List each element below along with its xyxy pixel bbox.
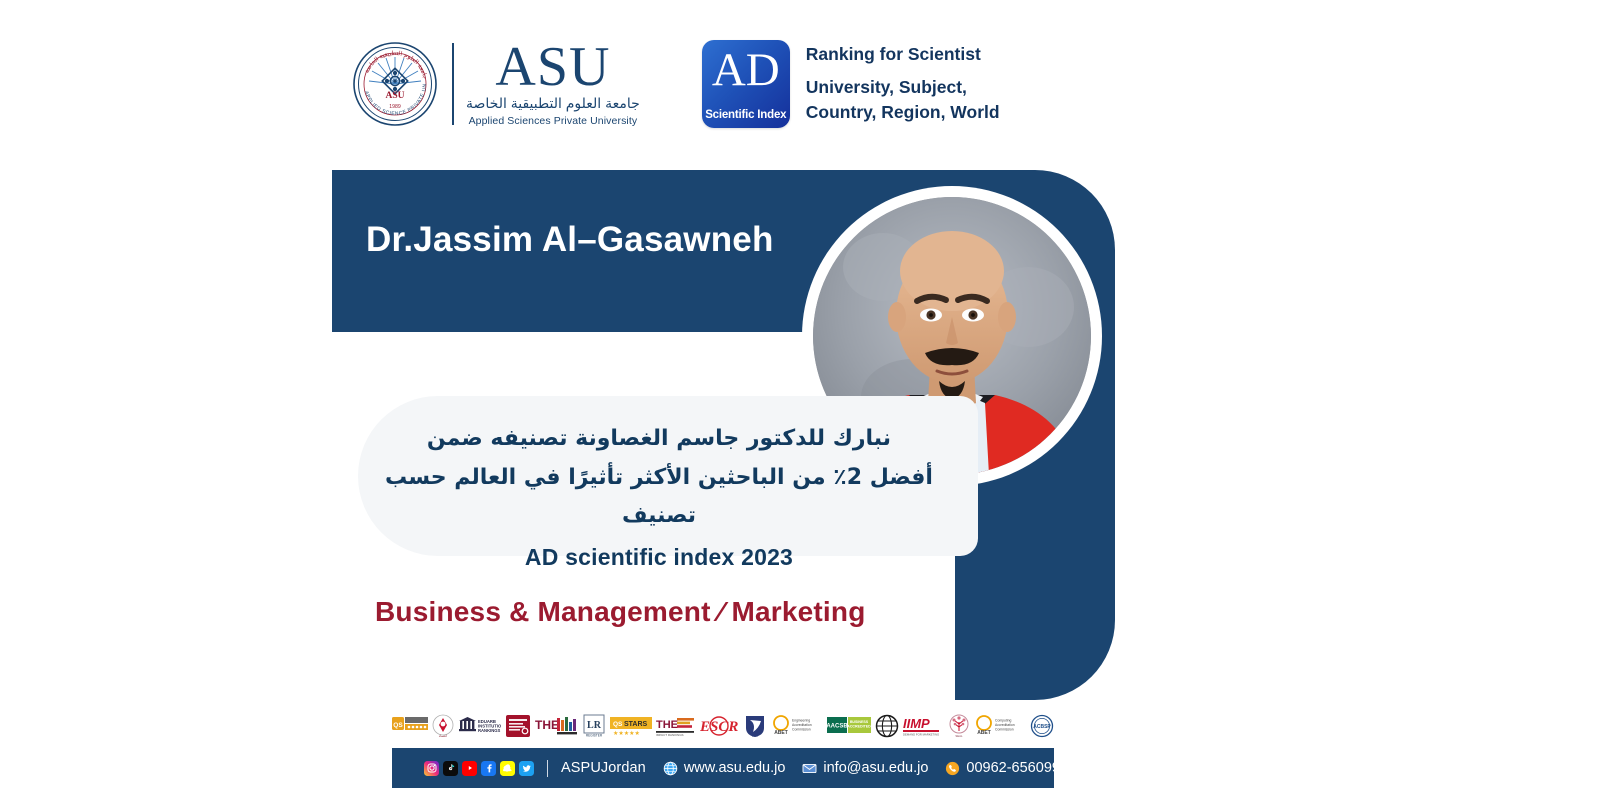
- ad-tagline: Ranking for Scientist University, Subjec…: [806, 42, 1000, 125]
- asu-seal-icon: ASU 1989 APPLIED SCIENCE PRIVATE UNIVERS…: [352, 41, 438, 127]
- svg-text:ABET: ABET: [774, 730, 788, 736]
- svg-text:QS: QS: [613, 721, 623, 728]
- qs-stars-rating-icon: QSSTARS★★★★★: [610, 713, 652, 739]
- phone-item[interactable]: 00962-65609999: [945, 760, 1076, 776]
- asu-wordmark: ASU جامعة العلوم التطبيقية الخاصة Applie…: [466, 41, 640, 127]
- svg-text:LR: LR: [587, 720, 602, 731]
- poster-canvas: ASU 1989 APPLIED SCIENCE PRIVATE UNIVERS…: [0, 0, 1600, 800]
- acbsp-seal-icon: ACBSP: [1030, 713, 1054, 739]
- aacsb-accredited-icon: AACSBBUSINESSACCREDITED: [827, 713, 871, 739]
- globe-icon: [663, 761, 678, 776]
- ad-scientific-index-logo: AD Scientific Index: [702, 40, 790, 128]
- svg-text:IMPACT RANKINGS: IMPACT RANKINGS: [656, 733, 684, 737]
- twitter-icon[interactable]: [519, 761, 534, 776]
- svg-text:UOK: UOK: [752, 734, 759, 738]
- phone-number[interactable]: 00962-65609999: [966, 760, 1076, 776]
- edurank-institutions-rankings-icon: EDUARBINSTITUTIONSRANKINGS: [459, 713, 501, 739]
- svg-text:THE: THE: [656, 719, 678, 731]
- asu-abbreviation: ASU: [495, 41, 610, 94]
- svg-text:ABET: ABET: [977, 730, 991, 736]
- the-world-university-rankings-icon: THE: [535, 713, 579, 739]
- ad-tagline-line2: University, Subject,: [806, 75, 1000, 100]
- asu-logo-lockup: ASU 1989 APPLIED SCIENCE PRIVATE UNIVERS…: [352, 29, 640, 139]
- the-impact-rankings-icon: THEIMPACT RANKINGS: [656, 713, 696, 739]
- svg-text:اعتماد: اعتماد: [439, 734, 448, 738]
- tiktok-icon[interactable]: [443, 761, 458, 776]
- svg-text:ACBSP: ACBSP: [1033, 724, 1051, 730]
- ad-tagline-line3: Country, Region, World: [806, 100, 1000, 125]
- congratulation-card: نبارك للدكتور جاسم الغصاونة تصنيفه ضمن أ…: [358, 396, 978, 556]
- ifla-globe-icon: [875, 713, 899, 739]
- instagram-icon[interactable]: [424, 761, 439, 776]
- youtube-icon[interactable]: [462, 761, 477, 776]
- abet-engineering-accreditation-icon: ABETEngineeringAccreditationCommission: [771, 713, 823, 739]
- svg-text:REGISTER: REGISTER: [586, 734, 603, 738]
- uok-shield-icon: UOK: [744, 713, 766, 739]
- svg-text:Accreditation: Accreditation: [995, 723, 1015, 727]
- svg-text:ESCR: ESCR: [700, 719, 738, 735]
- svg-text:Commission: Commission: [995, 728, 1014, 732]
- asu-english-name: Applied Sciences Private University: [469, 115, 638, 127]
- ad-logo-subtitle: Scientific Index: [702, 109, 790, 121]
- phone-icon: [945, 761, 960, 776]
- facebook-icon[interactable]: [481, 761, 496, 776]
- svg-text:QS: QS: [393, 722, 403, 729]
- website-url[interactable]: www.asu.edu.jo: [684, 760, 786, 776]
- svg-text:THE: THE: [535, 718, 559, 732]
- social-handle[interactable]: ASPUJordan: [561, 760, 646, 776]
- congratulation-line-1: نبارك للدكتور جاسم الغصاونة تصنيفه ضمن: [358, 420, 960, 459]
- logo-divider: [452, 43, 454, 125]
- contact-footer-bar: ASPUJordan www.asu.edu.jo info@asu.edu.j…: [392, 748, 1054, 788]
- snapchat-icon[interactable]: [500, 761, 515, 776]
- ad-tagline-line1: Ranking for Scientist: [806, 42, 1000, 67]
- svg-text:Accreditation: Accreditation: [792, 723, 812, 727]
- abet-computing-accreditation-icon: ABETComputingAccreditationCommission: [974, 713, 1026, 739]
- svg-text:IIMP: IIMP: [903, 716, 930, 731]
- svg-text:BUSINESS: BUSINESS: [850, 720, 869, 724]
- email-address[interactable]: info@asu.edu.jo: [823, 760, 928, 776]
- subject-field: Business & Management ⁄ Marketing: [375, 596, 866, 628]
- svg-text:1989: 1989: [389, 104, 401, 110]
- footer-divider: [547, 760, 548, 777]
- svg-text:STARS: STARS: [624, 721, 648, 728]
- website-item[interactable]: www.asu.edu.jo: [663, 760, 786, 776]
- lr-register-icon: LRREGISTER: [583, 713, 605, 739]
- svg-text:SEAL: SEAL: [955, 734, 963, 738]
- qs-stars-excellent-icon: QS: [392, 713, 428, 739]
- poster-header: ASU 1989 APPLIED SCIENCE PRIVATE UNIVERS…: [352, 24, 1012, 144]
- svg-text:★★★★★: ★★★★★: [613, 730, 640, 737]
- arab-universities-union-icon: [505, 713, 531, 739]
- svg-text:DEMAND FOR MARKETING: DEMAND FOR MARKETING: [903, 733, 939, 737]
- asu-arabic-name: جامعة العلوم التطبيقية الخاصة: [466, 95, 640, 112]
- honoree-name: Dr.Jassim Al–Gasawneh: [366, 220, 774, 260]
- congratulation-index-label: AD scientific index 2023: [358, 544, 960, 571]
- svg-text:ACCREDITED: ACCREDITED: [847, 725, 871, 729]
- envelope-icon: [802, 761, 817, 776]
- svg-text:AACSB: AACSB: [827, 724, 848, 730]
- tree-seal-icon: SEAL: [948, 713, 970, 739]
- jordan-heritage-badge-icon: اعتماد: [432, 713, 454, 739]
- svg-text:Engineering: Engineering: [792, 719, 810, 723]
- social-icons-group: ASPUJordan: [424, 760, 646, 777]
- email-item[interactable]: info@asu.edu.jo: [802, 760, 928, 776]
- svg-text:ASU: ASU: [385, 91, 404, 101]
- congratulation-text: نبارك للدكتور جاسم الغصاونة تصنيفه ضمن أ…: [358, 420, 960, 571]
- svg-text:Commission: Commission: [792, 728, 811, 732]
- accreditation-logo-strip: QS اعتماد EDUARBINSTITUTIONSRANKINGS THE…: [392, 711, 1054, 741]
- svg-text:Computing: Computing: [995, 719, 1012, 723]
- ad-logo-mark: AD: [702, 46, 790, 95]
- iimp-marketing-icon: IIMPDEMAND FOR MARKETING: [903, 713, 943, 739]
- congratulation-line-2: أفضل 2٪ من الباحثين الأكثر تأثيرًا في ال…: [358, 459, 960, 536]
- svg-text:RANKINGS: RANKINGS: [478, 728, 501, 733]
- ad-scientific-index-lockup: AD Scientific Index Ranking for Scientis…: [702, 40, 1000, 128]
- escr-accreditation-icon: ESCR: [700, 713, 740, 739]
